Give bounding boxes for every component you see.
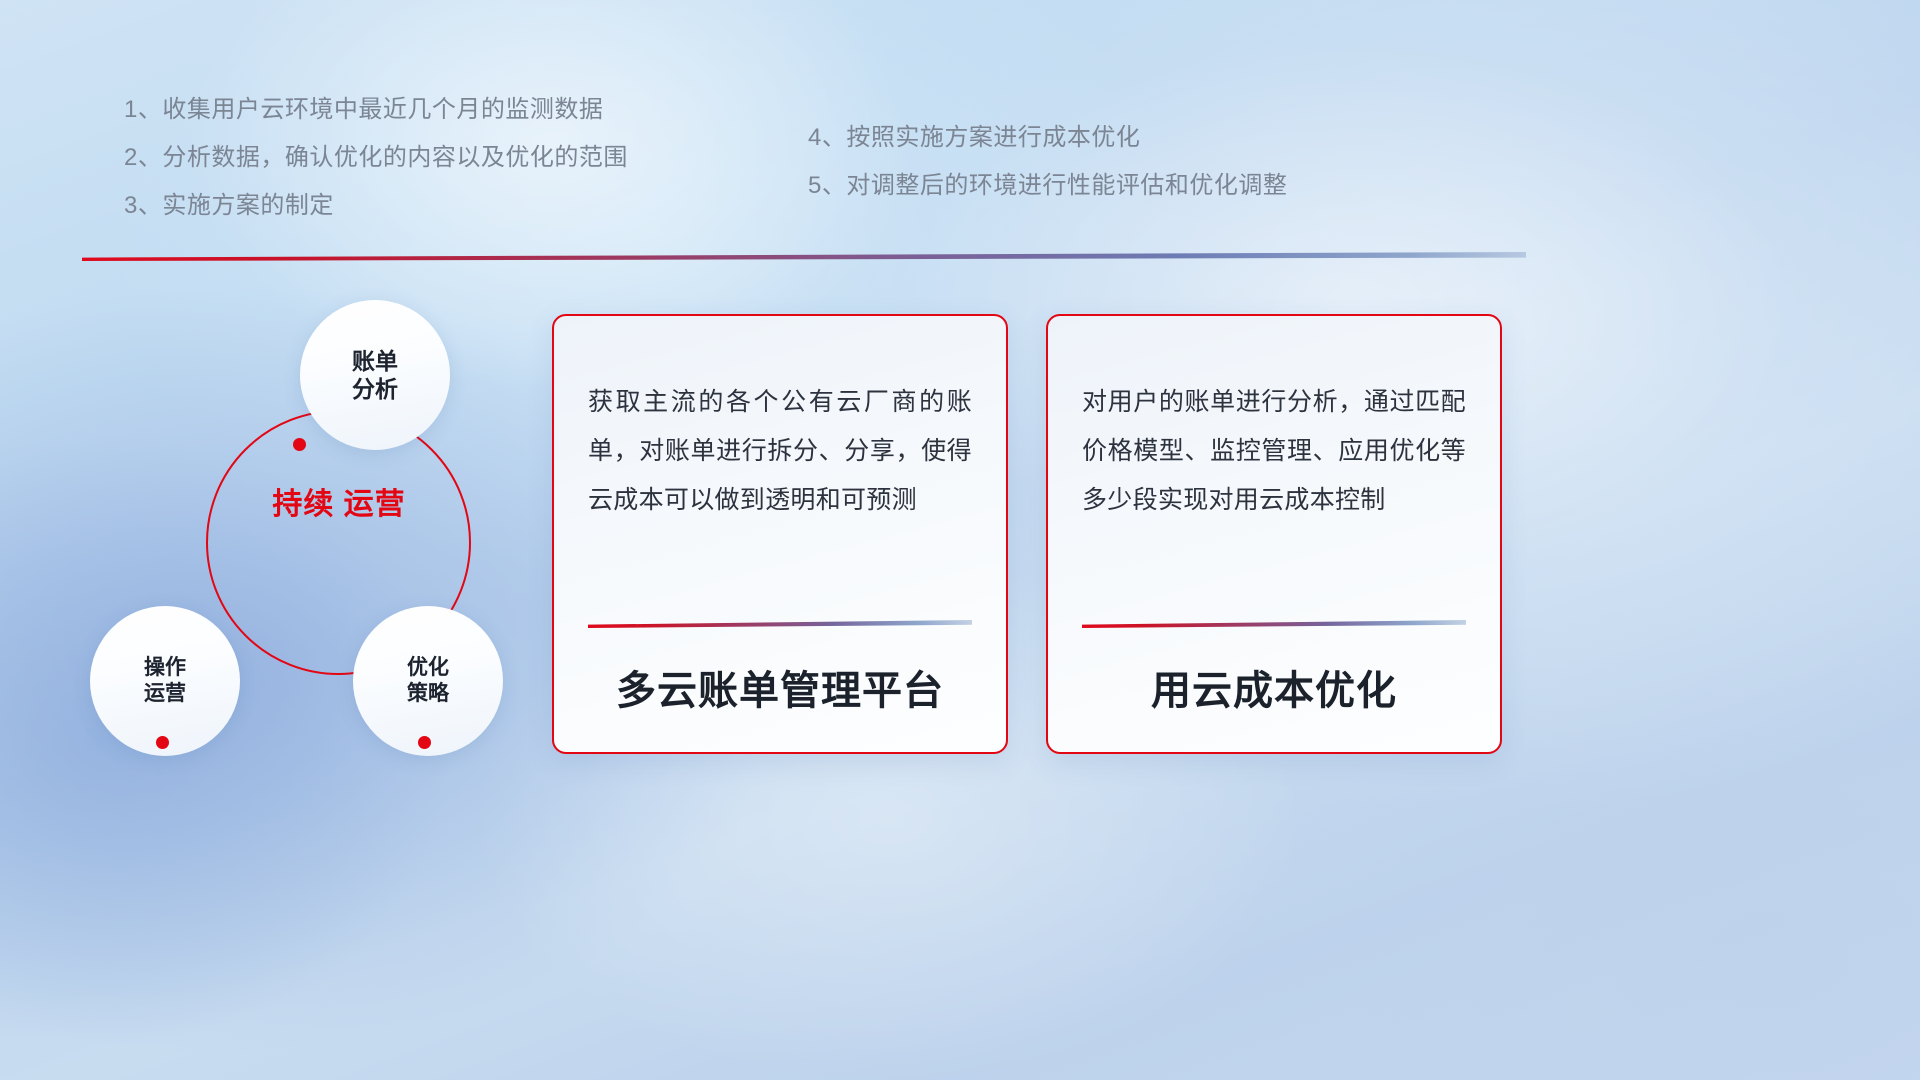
bubble-label-line-2: 策略 <box>407 681 449 707</box>
bubble-label-line-1: 操作 <box>144 655 186 681</box>
feature-card-cloud-cost-optimization[interactable]: 对用户的账单进行分析，通过匹配价格模型、监控管理、应用优化等多少段实现对用云成本… <box>1046 314 1502 754</box>
card-body-text: 对用户的账单进行分析，通过匹配价格模型、监控管理、应用优化等多少段实现对用云成本… <box>1082 378 1466 524</box>
bubble-label-line-2: 运营 <box>144 681 186 707</box>
bubble-label-line-1: 优化 <box>407 655 449 681</box>
slide-canvas: 1、收集用户云环境中最近几个月的监测数据 2、分析数据，确认优化的内容以及优化的… <box>0 0 1920 1080</box>
card-body-text: 获取主流的各个公有云厂商的账单，对账单进行拆分、分享，使得云成本可以做到透明和可… <box>588 378 972 524</box>
card-title: 多云账单管理平台 <box>588 658 972 716</box>
step-item-4: 4、按照实施方案进行成本优化 <box>808 126 1287 150</box>
feature-card-multicloud-billing[interactable]: 获取主流的各个公有云厂商的账单，对账单进行拆分、分享，使得云成本可以做到透明和可… <box>552 314 1008 754</box>
diagram-center-label: 持续 运营 <box>249 486 429 524</box>
bubble-label-line-2: 分析 <box>352 375 398 403</box>
cycle-diagram: 持续 运营 账单 分析 操作 运营 优化 策略 <box>78 288 548 768</box>
bubble-label-line-1: 账单 <box>352 347 398 375</box>
diagram-node-dot-top <box>293 438 306 451</box>
steps-list-right: 4、按照实施方案进行成本优化 5、对调整后的环境进行性能评估和优化调整 <box>808 126 1287 198</box>
diagram-bubble-operations[interactable]: 操作 运营 <box>90 606 240 756</box>
card-divider <box>588 620 972 628</box>
section-divider <box>82 252 1526 261</box>
step-item-1: 1、收集用户云环境中最近几个月的监测数据 <box>124 98 628 122</box>
diagram-bubble-optimization-strategy[interactable]: 优化 策略 <box>353 606 503 756</box>
card-title: 用云成本优化 <box>1082 658 1466 716</box>
steps-list-left: 1、收集用户云环境中最近几个月的监测数据 2、分析数据，确认优化的内容以及优化的… <box>124 98 628 218</box>
center-label-line-2: 运营 <box>344 488 406 521</box>
diagram-node-dot-bottom-right <box>418 736 431 749</box>
step-item-2: 2、分析数据，确认优化的内容以及优化的范围 <box>124 146 628 170</box>
diagram-node-dot-bottom-left <box>156 736 169 749</box>
center-label-line-1: 持续 <box>272 488 334 521</box>
card-divider <box>1082 620 1466 628</box>
step-item-3: 3、实施方案的制定 <box>124 194 628 218</box>
diagram-bubble-bill-analysis[interactable]: 账单 分析 <box>300 300 450 450</box>
step-item-5: 5、对调整后的环境进行性能评估和优化调整 <box>808 174 1287 198</box>
